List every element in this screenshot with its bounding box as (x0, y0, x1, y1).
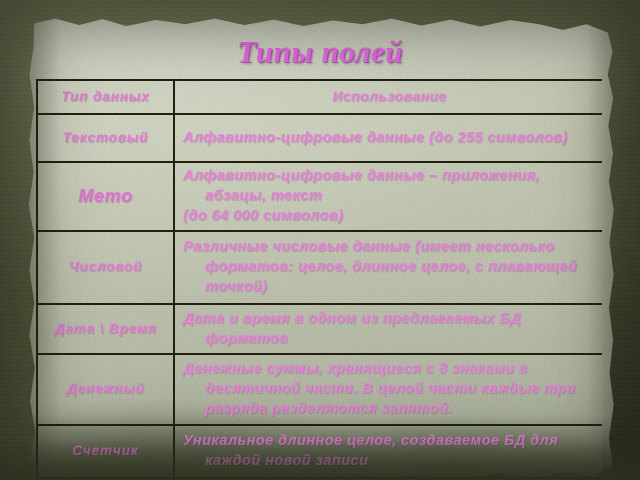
field-types-table: Тип данных Использование Текстовый Алфав… (36, 79, 602, 480)
row-type-label: Memo (42, 186, 169, 208)
row-type-cell: Счетчик (37, 425, 174, 478)
row-type-cell: Дата \ Время (37, 304, 174, 354)
header-label-usage: Использование (183, 87, 596, 106)
row-usage-line: Денежные суммы, хранящиеся с 8 знаками в… (183, 359, 596, 419)
row-type-label: Дата \ Время (42, 321, 169, 337)
row-type-label: Счетчик (42, 443, 169, 459)
row-type-cell: Текстовый (37, 114, 174, 162)
row-usage-cell: Различные числовые данные (имеет несколь… (174, 231, 602, 304)
row-usage-cell: Алфавитно-цифровые данные (до 255 символ… (174, 114, 602, 162)
row-usage-cell: Дата и время в одном из предлагаемых БД … (174, 304, 602, 354)
row-usage-line: (до 64 000 символов) (183, 206, 596, 226)
field-types-table-wrapper: Тип данных Использование Текстовый Алфав… (36, 79, 602, 480)
row-usage-line: Различные числовые данные (имеет несколь… (183, 237, 596, 297)
row-type-label: Текстовый (42, 130, 169, 146)
row-usage-cell: Денежные суммы, хранящиеся с 8 знаками в… (174, 354, 602, 425)
row-type-label: Числовой (42, 259, 169, 275)
page-title: Типы полей (0, 34, 640, 70)
header-label-type: Тип данных (42, 89, 169, 105)
table-row: Денежный Денежные суммы, хранящиеся с 8 … (37, 354, 602, 425)
row-usage-cell: Уникальное длинное целое, создаваемое БД… (174, 425, 602, 478)
row-usage-line: Дата и время в одном из предлагаемых БД … (183, 309, 596, 349)
header-cell-usage: Использование (174, 80, 602, 114)
slide-canvas: Типы полей Тип данных Использование Текс… (0, 0, 640, 480)
table-row: Числовой Различные числовые данные (имее… (37, 231, 602, 304)
row-type-cell: Числовой (37, 231, 174, 304)
table-header-row: Тип данных Использование (37, 80, 602, 114)
row-type-label: Денежный (42, 381, 169, 397)
row-usage-line: Алфавитно-цифровые данные (до 255 символ… (183, 128, 596, 148)
table-row: Счетчик Уникальное длинное целое, создав… (37, 425, 602, 478)
row-type-cell: Memo (37, 162, 174, 231)
row-usage-line: Уникальное длинное целое, создаваемое БД… (183, 431, 596, 471)
header-cell-type: Тип данных (37, 80, 174, 114)
table-row: Дата \ Время Дата и время в одном из пре… (37, 304, 602, 354)
table-row: Текстовый Алфавитно-цифровые данные (до … (37, 114, 602, 162)
row-type-cell: Денежный (37, 354, 174, 425)
row-usage-cell: Алфавитно-цифровые данные – приложения, … (174, 162, 602, 231)
row-usage-line: Алфавитно-цифровые данные – приложения, … (183, 166, 596, 206)
table-row: Memo Алфавитно-цифровые данные – приложе… (37, 162, 602, 231)
